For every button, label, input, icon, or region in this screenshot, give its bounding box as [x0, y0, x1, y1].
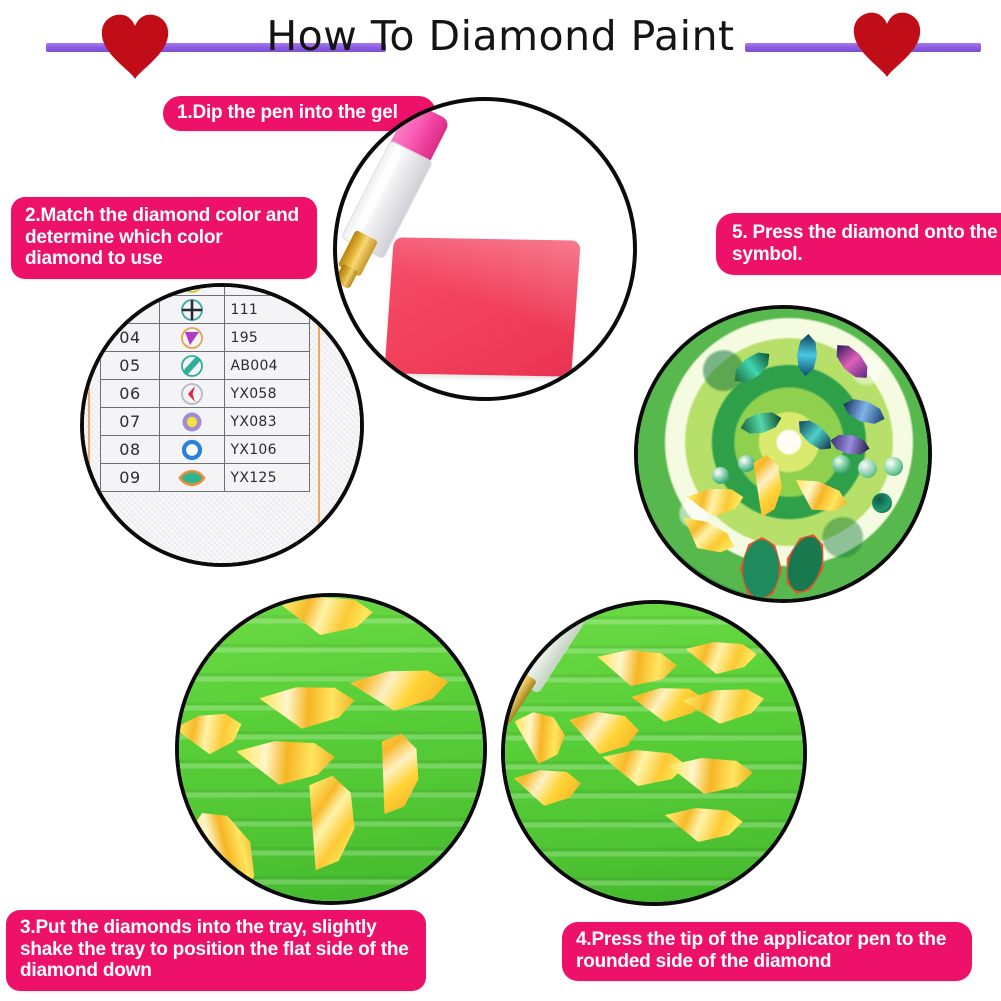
chart-row-number: 08	[101, 436, 160, 464]
chart-row-number: 09	[101, 464, 160, 492]
canvas-gem	[832, 455, 851, 474]
plus-cross-symbol	[159, 296, 225, 324]
chart-row-code: YX125	[225, 464, 310, 492]
chart-row: 06 YX058	[101, 380, 310, 408]
canvas-gem	[884, 457, 903, 476]
chart-row-number: 05	[101, 352, 160, 380]
chart-paper: 01 02002 09303 11104 19505 AB00406 YX058…	[80, 283, 364, 567]
step-4-label: 4.Press the tip of the applicator pen to…	[562, 922, 972, 981]
step-4-photo	[501, 600, 807, 906]
chart-row: 05 AB004	[101, 352, 310, 380]
chart-row-number: 06	[101, 380, 160, 408]
step-5-label: 5. Press the diamond onto the symbol.	[716, 213, 1001, 275]
chart-row-number: 04	[101, 324, 160, 352]
chart-body: 01 02002 09303 11104 19505 AB00406 YX058…	[101, 283, 310, 492]
leaf-slash-symbol	[159, 352, 225, 380]
triangle-quarter-symbol	[159, 283, 225, 296]
chevron-left-symbol	[159, 380, 225, 408]
triangle-fan-symbol	[159, 324, 225, 352]
chart-row: 09 YX125	[101, 464, 310, 492]
header: How To Diamond Paint	[0, 0, 1001, 92]
eye-leaf-symbol	[159, 464, 225, 492]
canvas-gem	[872, 493, 892, 513]
step-2-photo: 01 02002 09303 11104 19505 AB00406 YX058…	[80, 283, 364, 567]
step-3-label: 3.Put the diamonds into the tray, slight…	[6, 910, 426, 991]
chart-row: 08 YX106	[101, 436, 310, 464]
step-5-photo	[634, 305, 932, 603]
chart-row-code: 195	[225, 324, 310, 352]
chart-row: 07 YX083	[101, 408, 310, 436]
canvas-gem	[858, 459, 877, 478]
chart-margin-line	[318, 283, 320, 567]
canvas-gem	[712, 467, 729, 484]
chart-row-code: AB004	[225, 352, 310, 380]
step-1-photo	[333, 97, 637, 401]
gel-pad	[384, 237, 580, 376]
chart-row-code: YX058	[225, 380, 310, 408]
page-title: How To Diamond Paint	[0, 16, 1001, 57]
chart-row: 02 093	[101, 283, 310, 296]
canvas-gem	[738, 455, 755, 472]
mandala-canvas	[634, 305, 932, 603]
donut-dot-symbol	[159, 408, 225, 436]
step-3-photo	[175, 593, 487, 905]
chart-margin-line	[88, 283, 90, 567]
chart-row: 04 195	[101, 324, 310, 352]
chart-row: 03 111	[101, 296, 310, 324]
chart-row-number: 07	[101, 408, 160, 436]
ring-symbol	[159, 436, 225, 464]
chart-row-code: YX083	[225, 408, 310, 436]
chart-row-code: YX106	[225, 436, 310, 464]
chart-row-code: 111	[225, 296, 310, 324]
step-2-label: 2.Match the diamond color and determine …	[11, 197, 317, 279]
infographic-canvas: How To Diamond Paint 1.Dip the pen into …	[0, 0, 1001, 1001]
chart-row-number: 03	[101, 296, 160, 324]
chart-row-code: 093	[225, 283, 310, 296]
color-symbol-chart: 01 02002 09303 11104 19505 AB00406 YX058…	[100, 283, 310, 492]
chart-row-number: 02	[101, 283, 160, 296]
